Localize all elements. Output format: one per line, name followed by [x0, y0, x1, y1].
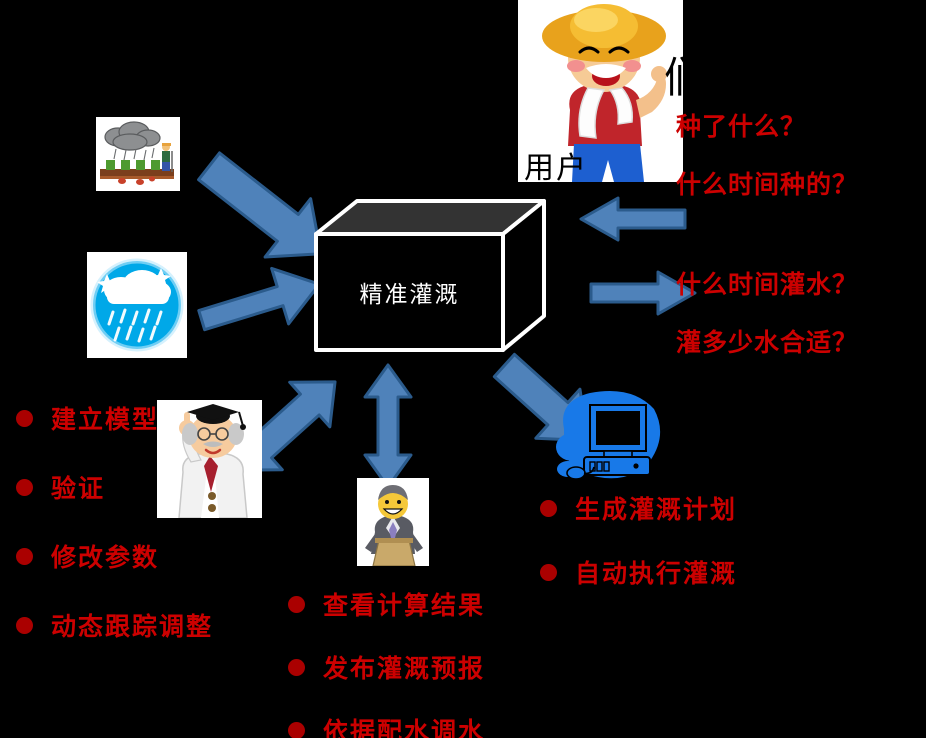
computer-clipart: [548, 385, 666, 485]
presenter-clipart: [357, 478, 429, 566]
diagram-canvas: 精准灌溉: [0, 0, 926, 738]
bullet-icon: [540, 500, 557, 517]
bullet-icon: [288, 659, 305, 676]
core-process-label: 精准灌溉: [360, 275, 460, 309]
bullet-icon: [16, 548, 33, 565]
bullet-icon: [540, 564, 557, 581]
list-item-label: 动态跟踪调整: [51, 607, 213, 643]
rain-over-crops-clipart: [96, 117, 180, 191]
list-item-label: 发布灌溉预报: [323, 649, 485, 685]
question-line: 种了什么？: [676, 107, 858, 143]
question-line: 什么时间种的？: [676, 165, 858, 201]
list-item: 验证: [16, 469, 213, 505]
list-item-label: 依据配水调水: [323, 712, 485, 738]
questions-planting: 种了什么？ 什么时间种的？: [676, 107, 858, 223]
publish-task-list: 查看计算结果 发布灌溉预报 依据配水调水: [288, 586, 485, 738]
user-caption-tail: 们: [664, 44, 706, 105]
question-line: 灌多少水合适？: [676, 323, 858, 359]
list-item: 自动执行灌溉: [540, 554, 737, 590]
core-process-box[interactable]: 精准灌溉: [313, 198, 541, 350]
list-item-label: 建立模型: [51, 400, 159, 436]
user-caption-label: 用户: [524, 143, 588, 187]
bullet-icon: [16, 617, 33, 634]
arrow-user-to-core: [578, 196, 688, 242]
bullet-icon: [16, 410, 33, 427]
list-item: 生成灌溉计划: [540, 490, 737, 526]
list-item-label: 自动执行灌溉: [575, 554, 737, 590]
bullet-icon: [16, 479, 33, 496]
list-item: 查看计算结果: [288, 586, 485, 622]
list-item-label: 修改参数: [51, 538, 159, 574]
model-task-list: 建立模型 验证 修改参数 动态跟踪调整: [16, 400, 213, 676]
bullet-icon: [288, 722, 305, 738]
list-item-label: 验证: [51, 469, 105, 505]
rain-cloud-icon: [87, 252, 187, 358]
list-item-label: 查看计算结果: [323, 586, 485, 622]
bullet-icon: [288, 596, 305, 613]
list-item-label: 生成灌溉计划: [575, 490, 737, 526]
questions-irrigation: 什么时间灌水？ 灌多少水合适？: [676, 265, 858, 381]
question-line: 什么时间灌水？: [676, 265, 858, 301]
arrow-rain-to-core: [196, 262, 326, 342]
arrow-core-to-presenter: [362, 362, 414, 490]
list-item: 发布灌溉预报: [288, 649, 485, 685]
execution-task-list: 生成灌溉计划 自动执行灌溉: [540, 490, 737, 618]
list-item: 建立模型: [16, 400, 213, 436]
list-item: 依据配水调水: [288, 712, 485, 738]
list-item: 修改参数: [16, 538, 213, 574]
list-item: 动态跟踪调整: [16, 607, 213, 643]
